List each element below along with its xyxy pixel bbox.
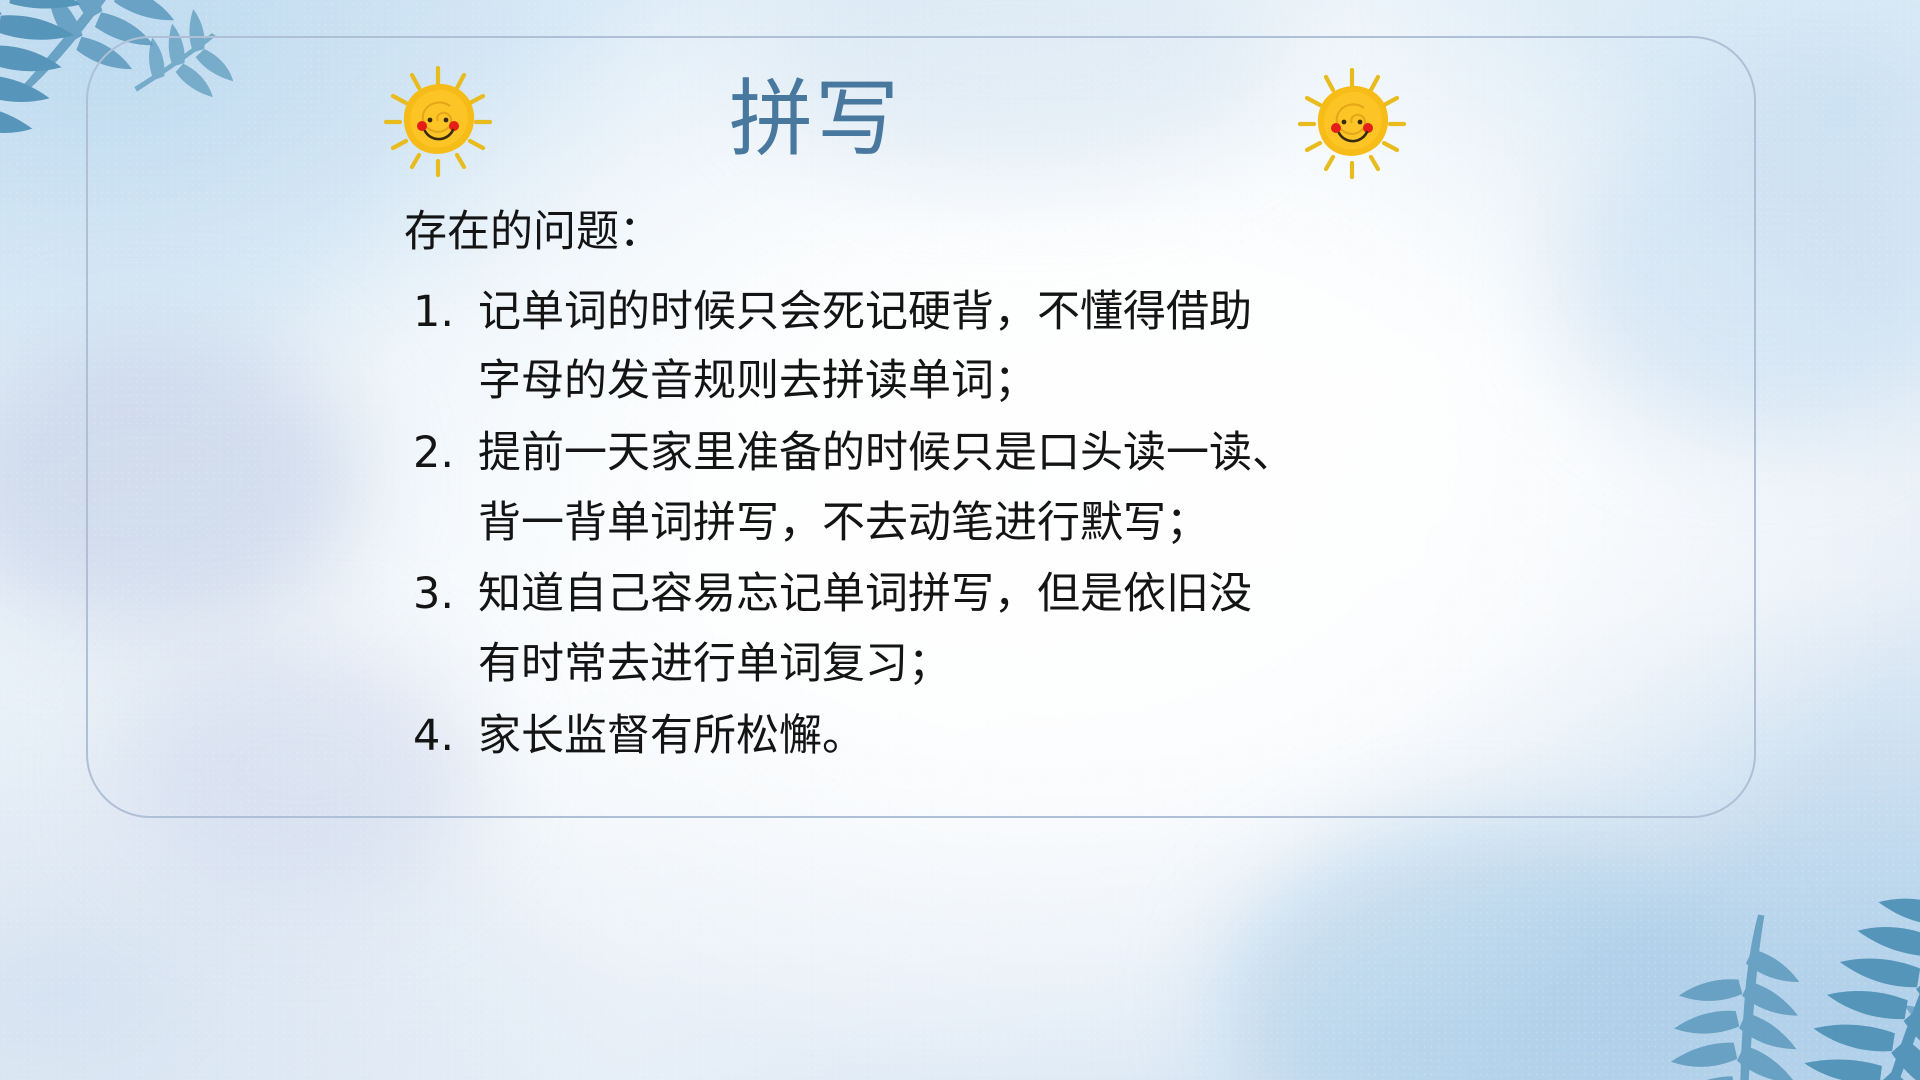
- list-item-text: 家长监督有所松懈。: [478, 702, 1544, 772]
- list-item-number: 2.: [404, 419, 478, 489]
- list-item-line: 提前一天家里准备的时候只是口头读一读、: [478, 428, 1295, 478]
- list-item: 2. 提前一天家里准备的时候只是口头读一读、 背一背单词拼写，不去动笔进行默写；: [404, 419, 1544, 558]
- list-item-text: 知道自己容易忘记单词拼写，但是依旧没 有时常去进行单词复习；: [478, 560, 1544, 699]
- watercolor-blotch: [1220, 830, 1740, 1080]
- list-item-number: 4.: [404, 702, 478, 772]
- watercolor-blotch: [0, 330, 360, 630]
- page-title: 拼写: [0, 77, 1920, 161]
- list-item: 4. 家长监督有所松懈。: [404, 702, 1544, 772]
- watercolor-blotch: [1560, 120, 1920, 440]
- problems-heading: 存在的问题：: [404, 198, 1544, 268]
- list-item-text: 提前一天家里准备的时候只是口头读一读、 背一背单词拼写，不去动笔进行默写；: [478, 419, 1544, 558]
- presentation-slide: 拼写 存在的问题： 1. 记单词的时候只会死记硬背，不懂得借助 字母的发音规则去…: [0, 0, 1920, 1080]
- list-item-line: 有时常去进行单词复习；: [478, 630, 1544, 700]
- page-title-text: 拼写: [729, 77, 901, 161]
- list-item-number: 1.: [404, 278, 478, 348]
- list-item-line: 背一背单词拼写，不去动笔进行默写；: [478, 489, 1544, 559]
- list-item: 1. 记单词的时候只会死记硬背，不懂得借助 字母的发音规则去拼读单词；: [404, 278, 1544, 417]
- list-item-text: 记单词的时候只会死记硬背，不懂得借助 字母的发音规则去拼读单词；: [478, 278, 1544, 417]
- slide-body: 存在的问题： 1. 记单词的时候只会死记硬背，不懂得借助 字母的发音规则去拼读单…: [404, 198, 1544, 773]
- problems-list: 1. 记单词的时候只会死记硬背，不懂得借助 字母的发音规则去拼读单词； 2. 提…: [404, 278, 1544, 772]
- list-item-line: 记单词的时候只会死记硬背，不懂得借助: [478, 287, 1252, 337]
- list-item-line: 家长监督有所松懈。: [478, 711, 865, 761]
- list-item-line: 字母的发音规则去拼读单词；: [478, 347, 1544, 417]
- list-item: 3. 知道自己容易忘记单词拼写，但是依旧没 有时常去进行单词复习；: [404, 560, 1544, 699]
- list-item-line: 知道自己容易忘记单词拼写，但是依旧没: [478, 569, 1252, 619]
- list-item-number: 3.: [404, 560, 478, 630]
